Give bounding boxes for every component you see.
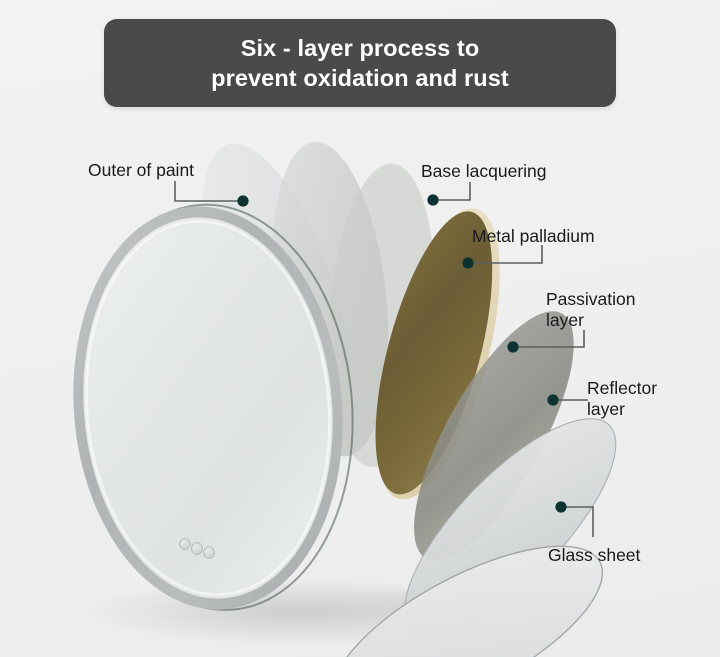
- label-glass-sheet: Glass sheet: [548, 545, 640, 566]
- leader-base-lacquering: [433, 182, 470, 200]
- title-line-1: Six - layer process to: [241, 33, 480, 63]
- touch-button-1[interactable]: [179, 538, 191, 550]
- label-metal-palladium: Metal palladium: [472, 226, 595, 247]
- label-outer-of-paint: Outer of paint: [88, 160, 194, 181]
- title-line-2: prevent oxidation and rust: [211, 63, 509, 93]
- title-banner: Six - layer process to prevent oxidation…: [104, 19, 616, 107]
- dot-passivation-layer[interactable]: [507, 341, 518, 352]
- dot-base-lacquering[interactable]: [427, 194, 438, 205]
- touch-button-2[interactable]: [191, 542, 203, 555]
- label-reflector-layer: Reflector layer: [587, 378, 657, 420]
- dot-glass-sheet[interactable]: [555, 501, 566, 512]
- dot-reflector-layer[interactable]: [547, 394, 558, 405]
- infographic-canvas: Six - layer process to prevent oxidation…: [0, 0, 720, 657]
- dot-outer-of-paint[interactable]: [237, 195, 248, 206]
- dot-metal-palladium[interactable]: [462, 257, 473, 268]
- touch-button-3[interactable]: [203, 546, 215, 559]
- label-passivation-layer: Passivation layer: [546, 289, 636, 331]
- label-base-lacquering: Base lacquering: [421, 161, 547, 182]
